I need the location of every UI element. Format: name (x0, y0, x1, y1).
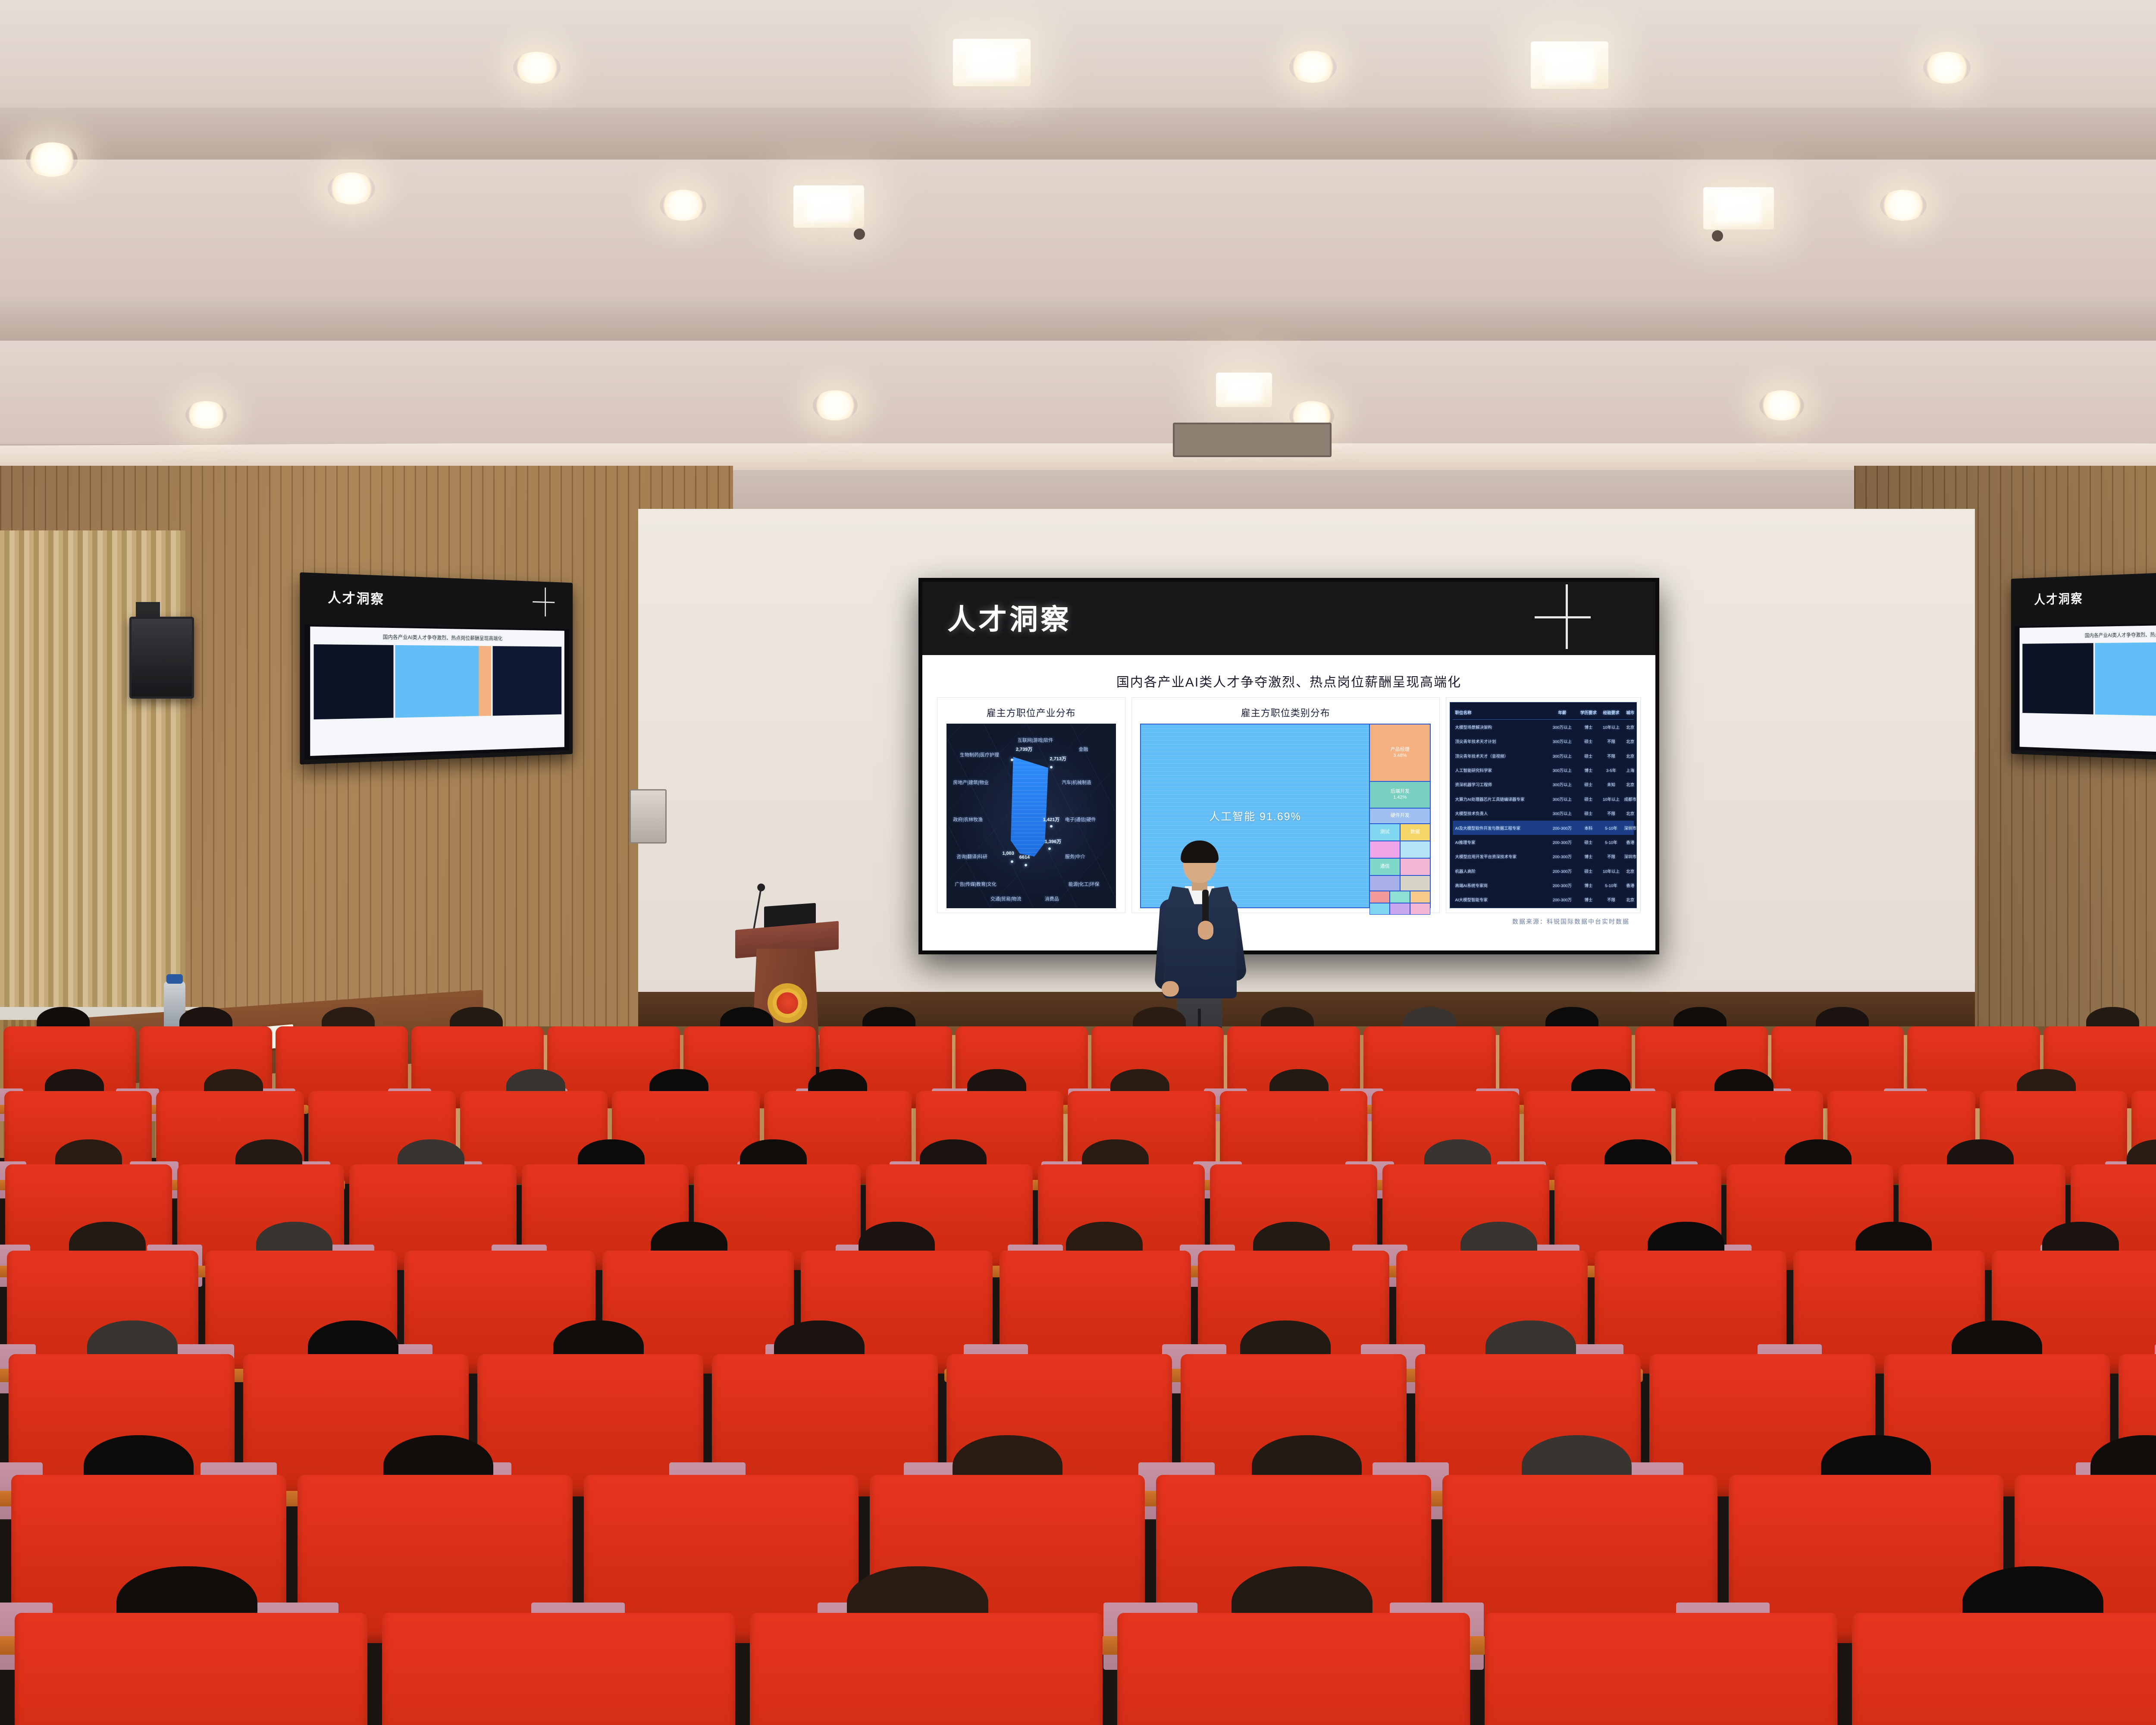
scatter-value: 2,739万 (1016, 746, 1033, 753)
seat-back (750, 1613, 1103, 1725)
ceiling-downlight (1759, 390, 1804, 420)
cell-experience: 10年以上 (1598, 796, 1624, 802)
ceiling-air-vent (1173, 423, 1332, 457)
cell-degree: 硕士 (1579, 781, 1598, 787)
cell-experience: 10年以上 (1598, 868, 1624, 874)
table-row: AI大模型智能专家200-300万博士不限北京 (1453, 893, 1634, 907)
table-row: AI推理专家200-300万硕士5-10年香港 (1453, 835, 1634, 849)
cell-degree: 硕士 (1579, 868, 1598, 874)
cell-city: 深圳市 (1624, 853, 1636, 859)
table-row: 顶尖青年技术天才计划300万以上硕士不限北京 (1453, 734, 1634, 749)
industry-scatter-chart: 生物制药|医疗护理 互联网|游戏|软件 金融 房地产|建筑|物业 汽车|机械制造… (946, 724, 1116, 908)
treemap-cell-misc (1410, 903, 1430, 914)
seat-back (15, 1613, 367, 1725)
cell-salary: 300万以上 (1546, 724, 1579, 730)
treemap-cell-misc (1390, 891, 1410, 902)
ceiling-downlight (813, 390, 858, 420)
scatter-point (1025, 864, 1027, 866)
treemap-cell-hardware: 硬件开发 (1370, 809, 1430, 823)
wall-monitor-right: 人才洞察 国内各产业AI类人才争夺激烈、热点岗位薪酬呈现高端化 (2011, 568, 2156, 765)
cell-city: 成都市 (1624, 796, 1636, 802)
scatter-label: 能源|化工|环保 (1069, 881, 1100, 888)
ceiling-downlight (185, 401, 227, 429)
scatter-label: 广告|传媒|教育|文化 (955, 881, 997, 888)
cell-city: 北京 (1624, 868, 1636, 874)
scatter-point (1050, 825, 1053, 828)
cell-salary: 200-300万 (1546, 897, 1579, 903)
panel-category-title: 雇主方职位类别分布 (1241, 706, 1330, 719)
cell-experience: 5-10年 (1598, 825, 1624, 831)
treemap-minor-column: 产品经理 3.48% 后端开发 1.42% 硬件开发 (1369, 724, 1430, 907)
ceiling-downlight (513, 52, 561, 84)
salary-table: 职位名称 年薪 学历要求 经验要求 城市 大模型场景解决架构300万以上博士10… (1450, 702, 1637, 908)
cell-position: 大模型应用开发平台资深技术专家 (1453, 853, 1546, 859)
table-row-highlighted: AI及大模型软件开发与数据工程专家200-300万本科5-10年深圳市 (1453, 821, 1634, 835)
cell-position: 人工智能研究科学家 (1453, 767, 1546, 773)
table-row: 人工智能研究科学家300万以上博士3-5年上海 (1453, 763, 1634, 777)
table-row: 大模型场景解决架构300万以上博士10年以上北京 (1453, 720, 1634, 734)
cell-experience: 未知 (1598, 781, 1624, 787)
cell-salary: 200-300万 (1546, 853, 1579, 859)
panel-industry-distribution: 雇主方职位产业分布 生物制药|医疗护理 互联网|游戏|软件 金融 房地产|建筑|… (937, 697, 1125, 913)
cell-experience: 3-5年 (1598, 767, 1624, 773)
slide-body: 国内各产业AI类人才争夺激烈、热点岗位薪酬呈现高端化 雇主方职位产业分布 生物制… (922, 655, 1655, 950)
scatter-label: 服务|中介 (1065, 853, 1085, 860)
slide-title: 人才洞察 (947, 596, 1072, 638)
treemap-cell-communication: 通信 (1370, 859, 1399, 875)
scatter-value: 2,713万 (1050, 755, 1067, 762)
slide-header: 人才洞察 (922, 582, 1655, 655)
cell-degree: 博士 (1579, 724, 1598, 730)
cell-degree: 硕士 (1579, 796, 1598, 802)
treemap-cell-misc (1370, 841, 1399, 858)
cell-salary: 200-300万 (1546, 868, 1579, 874)
cell-degree: 博士 (1579, 853, 1598, 859)
seat-back (1117, 1613, 1470, 1725)
cell-salary: 300万以上 (1546, 781, 1579, 787)
cell-experience: 5-10年 (1598, 839, 1624, 845)
cell-salary: 300万以上 (1546, 810, 1579, 816)
cell-position: 顶尖青年技术天才计划 (1453, 738, 1546, 744)
table-row: 大模型技术负责人300万以上硕士不限北京 (1453, 806, 1634, 821)
ceiling-soffit-front (0, 0, 2156, 108)
panel-salary-table: 职位名称 年薪 学历要求 经验要求 城市 大模型场景解决架构300万以上博士10… (1446, 697, 1641, 913)
cell-city: 深圳市 (1624, 825, 1636, 831)
ceiling-downlight (26, 142, 78, 177)
treemap-cell-misc (1390, 903, 1410, 914)
table-row: 资深机器学习工程师300万以上硕士未知北京 (1453, 778, 1634, 792)
table-header-row: 职位名称 年薪 学历要求 经验要求 城市 (1453, 705, 1634, 720)
scatter-label: 消费品 (1045, 895, 1059, 902)
university-crest-icon (768, 983, 807, 1023)
scatter-label: 交通|贸易|物流 (990, 895, 1022, 902)
monitor-right-slide-title: 人才洞察 (2034, 588, 2083, 608)
scatter-value: 1,396万 (1045, 838, 1062, 845)
cell-salary: 200-300万 (1546, 839, 1579, 845)
slide-subtitle: 国内各产业AI类人才争夺激烈、热点岗位薪酬呈现高端化 (937, 671, 1641, 690)
ceiling-panel-light (1531, 41, 1608, 89)
cell-degree: 博士 (1579, 882, 1598, 888)
auditorium-scene: 人才洞察 国内各产业AI类人才争夺激烈、热点岗位薪酬呈现高端化 (0, 0, 2156, 1725)
presenter-hand-right (1198, 921, 1213, 940)
cell-city: 上海 (1624, 767, 1636, 773)
auditorium-seat[interactable] (1485, 1613, 1837, 1725)
plus-mark-icon (1535, 584, 1591, 649)
auditorium-seat[interactable] (382, 1613, 735, 1725)
cell-salary: 300万以上 (1546, 767, 1579, 773)
cell-position: AI推理专家 (1453, 839, 1546, 845)
treemap-cell-misc (1401, 859, 1430, 875)
scatter-label: 房地产|建筑|物业 (953, 779, 989, 786)
cell-degree: 本科 (1579, 825, 1598, 831)
ceiling-slab-third (0, 341, 2156, 444)
ceiling-downlight (660, 190, 706, 221)
ceiling-panel-light (1703, 187, 1774, 229)
scatter-label: 政府|农林牧渔 (953, 816, 983, 823)
cell-degree: 博士 (1579, 897, 1598, 903)
table-column-header: 城市 (1624, 709, 1636, 715)
cell-degree: 博士 (1579, 767, 1598, 773)
cell-experience: 10年以上 (1598, 724, 1624, 730)
table-row: 博站博士后(长沙)200-300万博士1-3年长沙市 (1453, 907, 1634, 908)
table-column-header: 经验要求 (1598, 709, 1624, 715)
scatter-label: 电子|通信|硬件 (1065, 816, 1096, 823)
ceiling-panel-light (793, 185, 864, 228)
cell-experience: 不限 (1598, 897, 1624, 903)
wall-speaker-left (129, 617, 194, 699)
cell-position: 大模型场景解决架构 (1453, 724, 1546, 730)
table-row: 机器人高阶200-300万硕士10年以上北京 (1453, 864, 1634, 878)
cell-experience: 不限 (1598, 753, 1624, 759)
cell-city: 北京 (1624, 897, 1636, 903)
treemap-cell-label: 硬件开发 (1391, 813, 1410, 819)
audience-seating (0, 1026, 2156, 1725)
treemap-cell-data: 数据 (1401, 824, 1430, 841)
presenter-hand-left (1162, 981, 1179, 997)
treemap-cell-misc (1370, 876, 1399, 891)
table-column-header: 学历要求 (1579, 709, 1598, 715)
cell-city: 北京 (1624, 738, 1636, 744)
auditorium-seat[interactable] (1117, 1613, 1470, 1725)
cell-degree: 硕士 (1579, 753, 1598, 759)
auditorium-seat[interactable] (750, 1613, 1103, 1725)
monitor-left-subtitle: 国内各产业AI类人才争夺激烈、热点岗位薪酬呈现高端化 (310, 632, 564, 643)
table-column-header: 职位名称 (1453, 709, 1546, 715)
scatter-value: 6614 (1019, 855, 1030, 860)
treemap-cell-label: 通信 (1380, 864, 1390, 870)
table-row: 大算力AI处理器芯片工具链编译器专家300万以上硕士10年以上成都市 (1453, 792, 1634, 806)
presentation-slide: 人才洞察 国内各产业AI类人才争夺激烈、热点岗位薪酬呈现高端化 雇主方职位产业分… (922, 582, 1655, 950)
treemap-cell-misc (1410, 891, 1430, 902)
scatter-point (1048, 847, 1051, 850)
treemap-cell-misc (1401, 841, 1430, 858)
projector-control-box[interactable] (630, 789, 667, 844)
slide-source-note: 数据来源：科锐国际数据中台实时数据 (937, 917, 1630, 926)
auditorium-seat[interactable] (15, 1613, 367, 1725)
ceiling-slab-mid (0, 160, 2156, 302)
scatter-label: 金融 (1078, 746, 1088, 753)
cell-experience: 不限 (1598, 853, 1624, 859)
treemap-cell-misc (1401, 876, 1430, 891)
treemap-cell-misc (1370, 891, 1389, 902)
treemap-cell-product-manager: 产品经理 3.48% (1370, 724, 1430, 781)
table-row: 顶尖青年技术天才（音视频）300万以上硕士不限北京 (1453, 749, 1634, 763)
cell-position: AI及大模型软件开发与数据工程专家 (1453, 825, 1546, 831)
monitor-right-subtitle: 国内各产业AI类人才争夺激烈、热点岗位薪酬呈现高端化 (2019, 629, 2156, 640)
treemap-cell-label: 产品经理 3.48% (1391, 747, 1410, 759)
ceiling-downlight (328, 172, 375, 204)
cell-experience: 5-10年 (1598, 882, 1624, 888)
ceiling-slab-upper (0, 108, 2156, 160)
wall-monitor-left: 人才洞察 国内各产业AI类人才争夺激烈、热点岗位薪酬呈现高端化 (300, 572, 573, 765)
cell-degree: 硕士 (1579, 839, 1598, 845)
treemap-cell-label: 后端开发 1.42% (1391, 789, 1410, 801)
ceiling-panel-light (953, 39, 1031, 86)
slide-panels: 雇主方职位产业分布 生物制药|医疗护理 互联网|游戏|软件 金融 房地产|建筑|… (937, 697, 1641, 913)
cell-position: 高端AI系统专家岗 (1453, 882, 1546, 888)
auditorium-seat[interactable] (1852, 1613, 2156, 1725)
seat-back (1485, 1613, 1837, 1725)
cell-salary: 300万以上 (1546, 796, 1579, 802)
ceiling-slab-second (0, 302, 2156, 341)
scatter-value: 1,003 (1002, 851, 1014, 856)
ceiling-downlight (1923, 52, 1971, 84)
cell-city: 香港 (1624, 882, 1636, 888)
ceiling-sprinkler (854, 229, 865, 240)
cell-city: 北京 (1624, 781, 1636, 787)
seat-back (382, 1613, 735, 1725)
table-column-header: 年薪 (1546, 709, 1579, 715)
cell-city: 北京 (1624, 810, 1636, 816)
table-row: 高端AI系统专家岗200-300万博士5-10年香港 (1453, 878, 1634, 892)
ceiling-downlight (1880, 190, 1927, 221)
cell-position: 大算力AI处理器芯片工具链编译器专家 (1453, 796, 1546, 802)
panel-industry-title: 雇主方职位产业分布 (987, 706, 1076, 719)
scatter-value: 1,421万 (1043, 816, 1060, 823)
monitor-left-slide-title: 人才洞察 (328, 586, 385, 608)
treemap-cell-ai-label: 人工智能 91.69% (1209, 808, 1301, 824)
treemap-cell-label: 测试 (1380, 829, 1390, 835)
treemap-cell-test: 测试 (1370, 824, 1399, 841)
cell-position: 大模型技术负责人 (1453, 810, 1546, 816)
cell-salary: 200-300万 (1546, 825, 1579, 831)
cell-salary: 300万以上 (1546, 753, 1579, 759)
table-row: 大模型应用开发平台资深技术专家200-300万博士不限深圳市 (1453, 850, 1634, 864)
scatter-label: 咨询|翻译|科研 (956, 853, 987, 860)
cell-position: 机器人高阶 (1453, 868, 1546, 874)
cell-position: AI大模型智能专家 (1453, 897, 1546, 903)
ceiling-panel-light (1216, 373, 1272, 407)
cell-city: 香港 (1624, 839, 1636, 845)
presenter-hair (1181, 841, 1219, 863)
plus-mark-icon (533, 587, 555, 617)
cell-experience: 不限 (1598, 738, 1624, 744)
cell-city: 北京 (1624, 724, 1636, 730)
cell-salary: 200-300万 (1546, 882, 1579, 888)
scatter-point (1050, 766, 1053, 768)
ceiling-downlight (1289, 51, 1337, 83)
scatter-label: 生物制药|医疗护理 (960, 751, 999, 758)
cell-position: 资深机器学习工程师 (1453, 781, 1546, 787)
treemap-cell-misc (1370, 903, 1389, 914)
treemap-cell-backend: 后端开发 1.42% (1370, 782, 1430, 807)
ceiling-sprinkler (1712, 230, 1723, 241)
cell-salary: 300万以上 (1546, 738, 1579, 744)
main-projection-screen: 人才洞察 国内各产业AI类人才争夺激烈、热点岗位薪酬呈现高端化 雇主方职位产业分… (918, 578, 1659, 954)
cell-city: 北京 (1624, 753, 1636, 759)
treemap-cell-label: 数据 (1410, 829, 1420, 835)
cell-degree: 硕士 (1579, 738, 1598, 744)
scatter-label: 互联网|游戏|软件 (1018, 737, 1053, 743)
seat-back (1852, 1613, 2156, 1725)
scatter-point (1011, 860, 1013, 863)
cell-experience: 不限 (1598, 810, 1624, 816)
scatter-label: 汽车|机械制造 (1062, 779, 1091, 786)
podium-microphone-icon (752, 888, 761, 931)
cell-degree: 硕士 (1579, 810, 1598, 816)
cell-position: 顶尖青年技术天才（音视频） (1453, 753, 1546, 759)
